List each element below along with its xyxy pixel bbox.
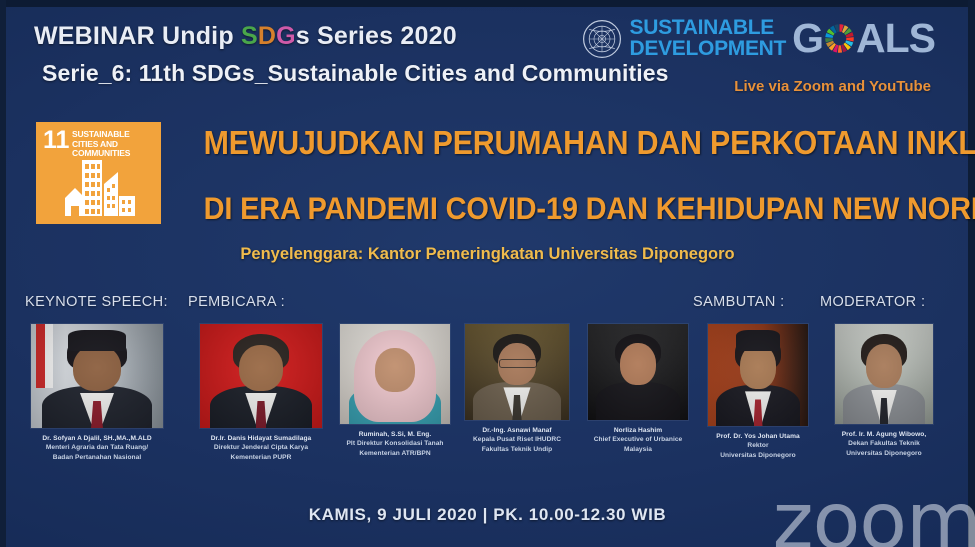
speaker-organization: Badan Pertanahan Nasional xyxy=(22,453,172,462)
goals-als: ALS xyxy=(856,18,935,59)
organizer-line: Penyelenggara: Kantor Pemeringkatan Univ… xyxy=(0,245,975,264)
sdg-11-goal-tile: 11 SUSTAINABLE CITIES AND COMMUNITIES xyxy=(36,122,161,224)
speaker-name: Prof. Ir. M. Agung Wibowo, xyxy=(820,430,948,439)
role-label-keynote: KEYNOTE SPEECH: xyxy=(25,294,168,310)
city-buildings-icon xyxy=(64,158,136,218)
speaker-organization: Kementerian PUPR xyxy=(186,453,336,462)
speaker-organization: Kementerian ATR/BPN xyxy=(330,449,460,458)
speaker-caption: Prof. Ir. M. Agung Wibowo,Dekan Fakultas… xyxy=(820,430,948,458)
sdg-11-number: 11 xyxy=(43,128,69,153)
webinar-title: MEWUJUDKAN PERUMAHAN DAN PERKOTAAN INKLU… xyxy=(172,126,962,224)
sdg-letter-g: G xyxy=(276,22,296,50)
portrait-asnawi-manaf xyxy=(465,324,569,420)
speaker-role: Plt Direktur Konsolidasi Tanah xyxy=(330,439,460,448)
portrait-yos-johan-utama xyxy=(708,324,808,426)
role-label-pembicara: PEMBICARA : xyxy=(188,294,285,310)
speaker-name: Prof. Dr. Yos Johan Utama xyxy=(697,432,819,441)
speaker-card: Dr. Sofyan A Djalil, SH.,MA.,M.ALDMenter… xyxy=(22,324,172,462)
speaker-card: Norliza HashimChief Executive of Urbanic… xyxy=(578,324,698,454)
un-emblem-icon xyxy=(582,19,622,59)
speaker-organization: Fakultas Teknik Undip xyxy=(457,445,577,454)
portrait-ruminah xyxy=(340,324,450,424)
sdg-letter-s: S xyxy=(241,22,258,50)
speaker-card: Dr.-Ing. Asnawi ManafKepala Pusat Riset … xyxy=(457,324,577,454)
speaker-organization: Malaysia xyxy=(578,445,698,454)
goals-g: G xyxy=(792,18,823,59)
role-label-sambutan: SAMBUTAN : xyxy=(693,294,785,310)
portrait-sofyan-djalil xyxy=(31,324,163,428)
speaker-name: Dr.-Ing. Asnawi Manaf xyxy=(457,426,577,435)
webinar-series-heading: WEBINAR Undip SDGs Series 2020 xyxy=(34,22,457,51)
speaker-name: Ruminah, S.Si, M. Eng. xyxy=(330,430,460,439)
sdg-line-development: DEVELOPMENT xyxy=(630,39,787,59)
speaker-name: Dr.Ir. Danis Hidayat Sumadilaga xyxy=(186,434,336,443)
series-subtitle: Serie_6: 11th SDGs_Sustainable Cities an… xyxy=(42,60,669,87)
schedule-line: KAMIS, 9 JULI 2020 | PK. 10.00-12.30 WIB xyxy=(0,505,975,525)
heading-prefix: WEBINAR Undip xyxy=(34,22,241,50)
speaker-caption: Ruminah, S.Si, M. Eng.Plt Direktur Konso… xyxy=(330,430,460,458)
speaker-caption: Dr. Sofyan A Djalil, SH.,MA.,M.ALDMenter… xyxy=(22,434,172,462)
speaker-role: Direktur Jenderal Cipta Karya xyxy=(186,443,336,452)
title-line-1: MEWUJUDKAN PERUMAHAN DAN PERKOTAAN INKLU… xyxy=(204,126,931,160)
sustainable-development-goals-logo: SUSTAINABLE DEVELOPMENT G ALS xyxy=(582,18,935,59)
speaker-role: Kepala Pusat Riset IHUDRC xyxy=(457,435,577,444)
speaker-organization: Universitas Diponegoro xyxy=(820,449,948,458)
speaker-role: Rektor xyxy=(697,441,819,450)
speaker-organization: Universitas Diponegoro xyxy=(697,451,819,460)
live-via-badge: Live via Zoom and YouTube xyxy=(734,78,931,95)
speaker-card: Prof. Ir. M. Agung Wibowo,Dekan Fakultas… xyxy=(820,324,948,458)
sdg-11-label: SUSTAINABLE CITIES AND COMMUNITIES xyxy=(72,130,156,159)
speaker-name: Dr. Sofyan A Djalil, SH.,MA.,M.ALD xyxy=(22,434,172,443)
sdg-line-sustainable: SUSTAINABLE xyxy=(630,18,787,38)
role-label-moderator: MODERATOR : xyxy=(820,294,925,310)
sdg-letter-s2: s xyxy=(296,22,310,50)
speaker-caption: Norliza HashimChief Executive of Urbanic… xyxy=(578,426,698,454)
speakers-row: Dr. Sofyan A Djalil, SH.,MA.,M.ALDMenter… xyxy=(0,324,975,489)
portrait-norliza-hashim xyxy=(588,324,688,420)
goals-wordmark: G ALS xyxy=(792,18,935,59)
speaker-caption: Dr.Ir. Danis Hidayat SumadilagaDirektur … xyxy=(186,434,336,462)
speaker-card: Dr.Ir. Danis Hidayat SumadilagaDirektur … xyxy=(186,324,336,462)
speaker-role: Menteri Agraria dan Tata Ruang/ xyxy=(22,443,172,452)
sdg-color-wheel-icon xyxy=(824,23,855,54)
speaker-caption: Dr.-Ing. Asnawi ManafKepala Pusat Riset … xyxy=(457,426,577,454)
speaker-card: Prof. Dr. Yos Johan UtamaRektorUniversit… xyxy=(697,324,819,460)
speaker-caption: Prof. Dr. Yos Johan UtamaRektorUniversit… xyxy=(697,432,819,460)
speaker-name: Norliza Hashim xyxy=(578,426,698,435)
sdg-letter-d: D xyxy=(258,22,276,50)
window-frame-top xyxy=(0,0,975,7)
speaker-role: Dekan Fakultas Teknik xyxy=(820,439,948,448)
zoom-shared-slide: WEBINAR Undip SDGs Series 2020 Serie_6: … xyxy=(0,0,975,547)
sdg-two-line-text: SUSTAINABLE DEVELOPMENT xyxy=(630,18,787,58)
speaker-role: Chief Executive of Urbanice xyxy=(578,435,698,444)
portrait-danis-sumadilaga xyxy=(200,324,322,428)
portrait-agung-wibowo xyxy=(835,324,933,424)
speaker-card: Ruminah, S.Si, M. Eng.Plt Direktur Konso… xyxy=(330,324,460,458)
heading-suffix: Series 2020 xyxy=(310,22,457,50)
sdg-wordmark: SUSTAINABLE DEVELOPMENT G ALS xyxy=(630,18,935,59)
title-line-2: DI ERA PANDEMI COVID-19 DAN KEHIDUPAN NE… xyxy=(204,192,931,224)
